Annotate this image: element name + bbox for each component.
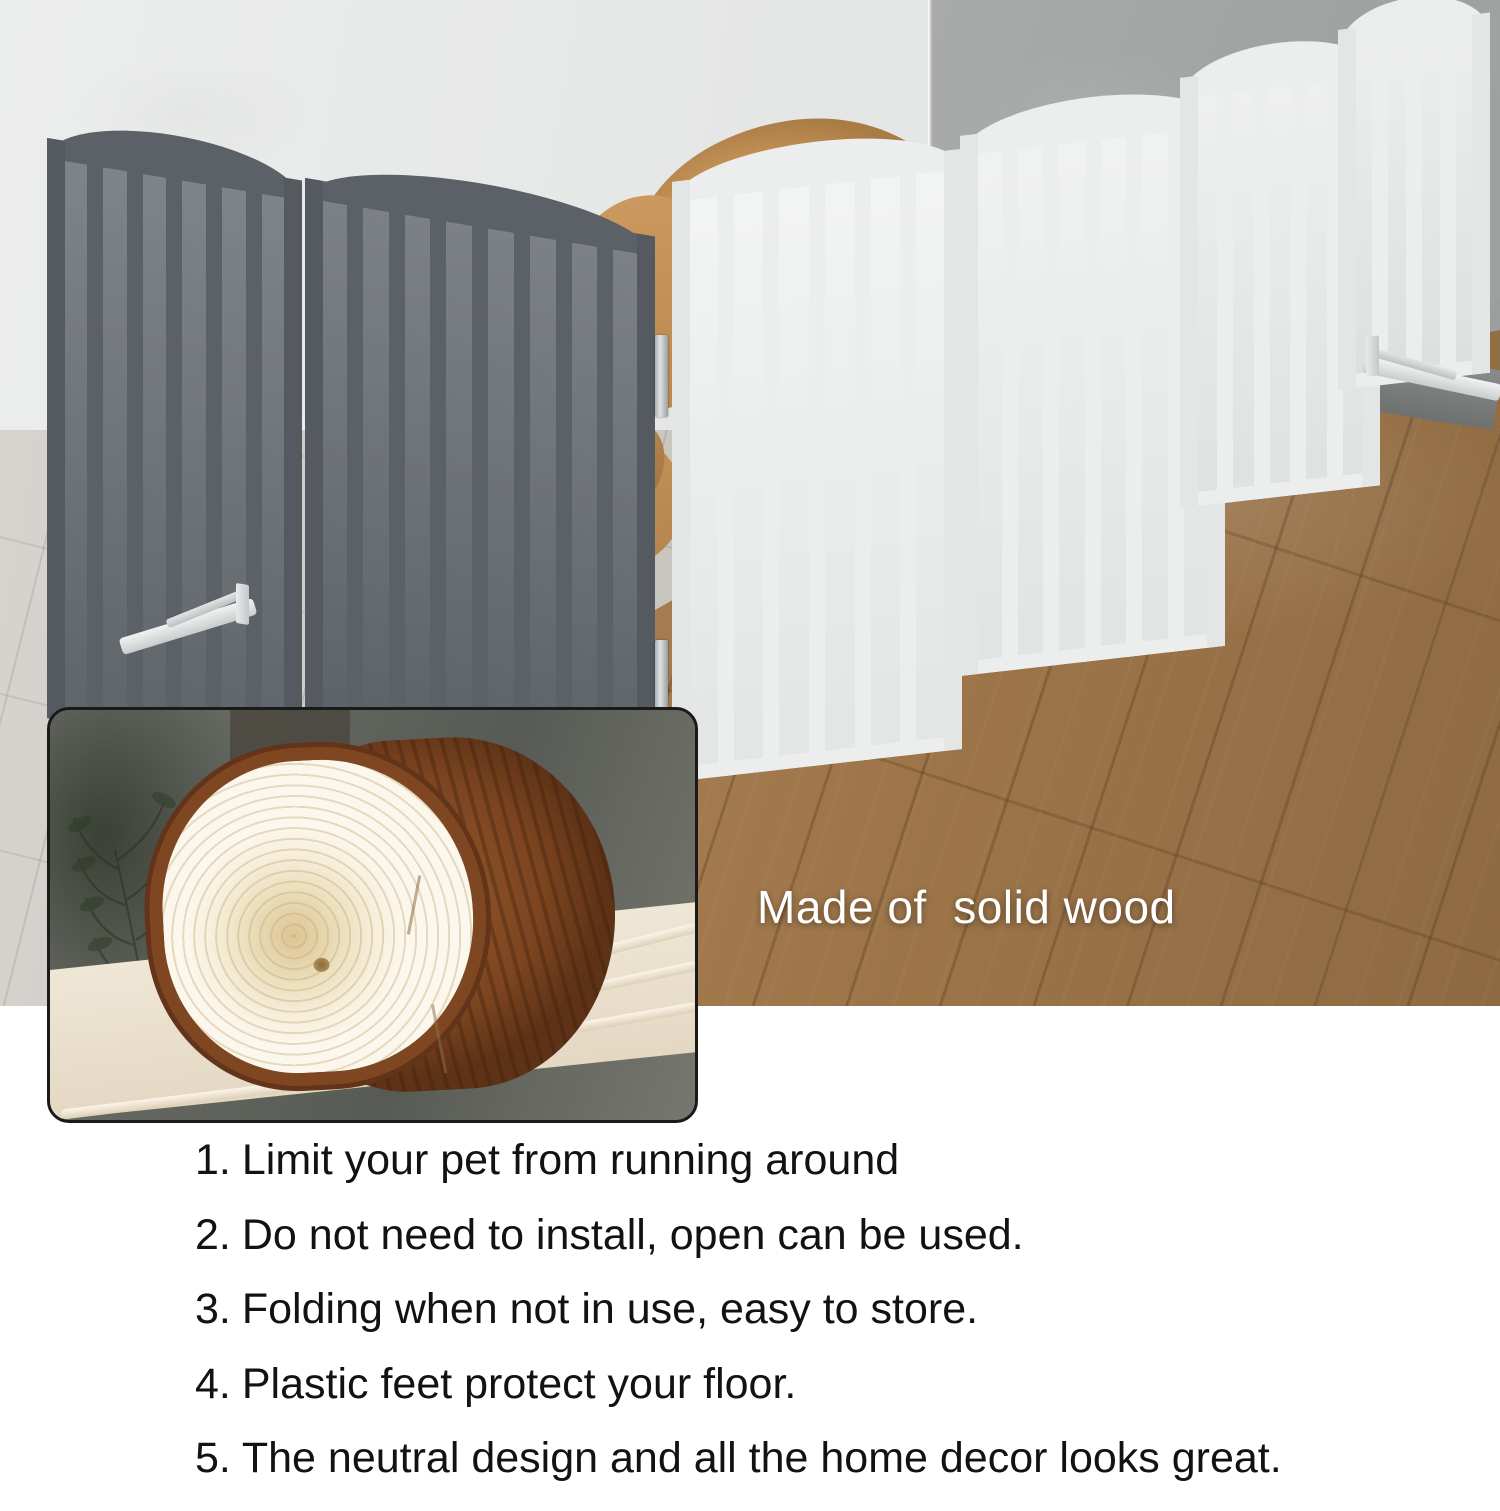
- gate-panel-2: [305, 178, 655, 777]
- list-item-number: 4.: [195, 1362, 231, 1408]
- panel-left-stile: [47, 138, 65, 721]
- list-item-text: Do not need to install, open can be used…: [242, 1213, 1024, 1259]
- panel-left-stile: [305, 178, 323, 721]
- feature-list: 1. Limit your pet from running around 2.…: [195, 1138, 1475, 1511]
- panel-slats: [47, 138, 302, 761]
- list-item-number: 2.: [195, 1213, 231, 1259]
- panel-right-stile: [1472, 13, 1490, 375]
- list-item: 2. Do not need to install, open can be u…: [195, 1213, 1475, 1259]
- panel-left-stile: [1180, 76, 1198, 508]
- made-of-solid-wood-caption: Made of solid wood: [757, 880, 1176, 934]
- list-item-text: Plastic feet protect your floor.: [242, 1362, 797, 1408]
- wood-log: [145, 738, 615, 1098]
- gate-panel-6: [1338, 13, 1490, 390]
- list-item-text: Limit your pet from running around: [242, 1138, 899, 1184]
- solid-wood-inset-photo: [47, 707, 698, 1123]
- gate-panel-3: [672, 149, 962, 782]
- panel-right-stile: [637, 234, 655, 777]
- log-pith: [313, 957, 330, 972]
- list-item-number: 1.: [195, 1138, 231, 1184]
- gate-panel-1: [47, 138, 302, 761]
- panel-left-stile: [1338, 28, 1356, 390]
- list-item: 1. Limit your pet from running around: [195, 1138, 1475, 1184]
- hinge-top: [655, 335, 668, 417]
- list-item: 3. Folding when not in use, easy to stor…: [195, 1287, 1475, 1333]
- foot-post: [236, 583, 249, 625]
- foot-post: [1366, 335, 1379, 376]
- list-item-text: Folding when not in use, easy to store.: [242, 1287, 978, 1333]
- list-item-number: 3.: [195, 1287, 231, 1333]
- panel-left-stile: [960, 134, 978, 676]
- list-item-text: The neutral design and all the home deco…: [242, 1436, 1282, 1482]
- list-item: 5. The neutral design and all the home d…: [195, 1436, 1475, 1482]
- panel-left-stile: [672, 180, 690, 782]
- panel-slats: [672, 149, 962, 782]
- panel-slats: [305, 178, 655, 777]
- log-crack: [407, 875, 421, 934]
- list-item: 4. Plastic feet protect your floor.: [195, 1362, 1475, 1408]
- list-item-number: 5.: [195, 1436, 231, 1482]
- panel-slats: [1338, 13, 1490, 390]
- panel-right-stile: [284, 178, 302, 761]
